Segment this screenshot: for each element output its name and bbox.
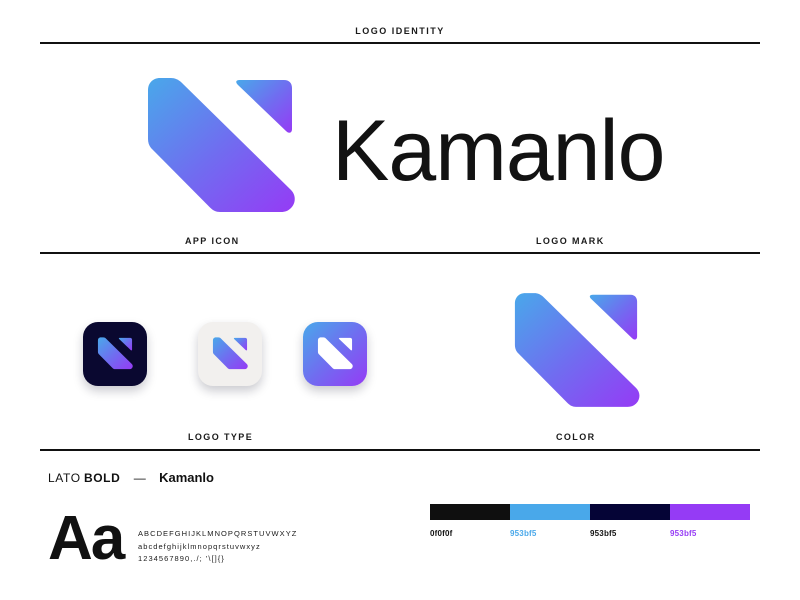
divider-row1 (40, 252, 760, 254)
caption-app-icon: APP ICON (185, 236, 240, 246)
app-icon-preview (140, 72, 300, 224)
kamanlo-logo-mark-icon (140, 72, 300, 224)
glyphs-uppercase: ABCDEFGHIJKLMNOPQRSTUVWXYZ (138, 528, 297, 541)
kamanlo-logo-mark-icon (211, 336, 249, 372)
swatch-label-sky-blue: 953bf5 (510, 529, 590, 538)
caption-color: COLOR (556, 432, 596, 442)
glyphs-lowercase: abcdefghijklmnopqrstuvwxyz (138, 541, 297, 554)
kamanlo-logo-mark-icon (316, 336, 354, 372)
typeface-weight: BOLD (84, 471, 120, 485)
swatch-deep-navy[interactable] (590, 504, 670, 520)
brand-guidelines-page: LOGO IDENTITY Kamanlo APP ICON LOGO MARK (0, 0, 800, 600)
mark-corner-wedge (236, 80, 292, 133)
swatch-label-ink-black: 0f0f0f (430, 529, 510, 538)
kamanlo-logo-mark-icon (96, 336, 134, 372)
caption-logo-mark: LOGO MARK (536, 236, 605, 246)
caption-logo-type: LOGO TYPE (188, 432, 253, 442)
glyphs-numerals: 1234567890,./; '\[]{} (138, 553, 297, 566)
divider-top (40, 42, 760, 44)
glyph-set: ABCDEFGHIJKLMNOPQRSTUVWXYZ abcdefghijklm… (138, 528, 297, 566)
color-swatch-labels: 0f0f0f 953bf5 953bf5 953bf5 (430, 529, 750, 538)
kamanlo-logo-mark-icon (508, 288, 644, 417)
color-swatch-bar (430, 504, 750, 520)
wordmark-text: Kamanlo (332, 103, 664, 199)
typeface-dash: — (134, 471, 146, 485)
typeface-line: LATO BOLD — Kamanlo (48, 470, 214, 485)
swatch-label-brand-purple: 953bf5 (670, 529, 750, 538)
divider-row2 (40, 449, 760, 451)
page-title: LOGO IDENTITY (0, 26, 800, 36)
typeface-specimen: Aa (48, 505, 123, 573)
logo-tile-light[interactable] (198, 322, 262, 386)
typeface-family: LATO (48, 471, 81, 485)
logo-tile-gradient[interactable] (303, 322, 367, 386)
swatch-sky-blue[interactable] (510, 504, 590, 520)
color-section-mark (508, 288, 644, 417)
logo-tile-dark[interactable] (83, 322, 147, 386)
swatch-label-deep-navy: 953bf5 (590, 529, 670, 538)
swatch-brand-purple[interactable] (670, 504, 750, 520)
swatch-ink-black[interactable] (430, 504, 510, 520)
typeface-sample: Kamanlo (159, 470, 214, 485)
